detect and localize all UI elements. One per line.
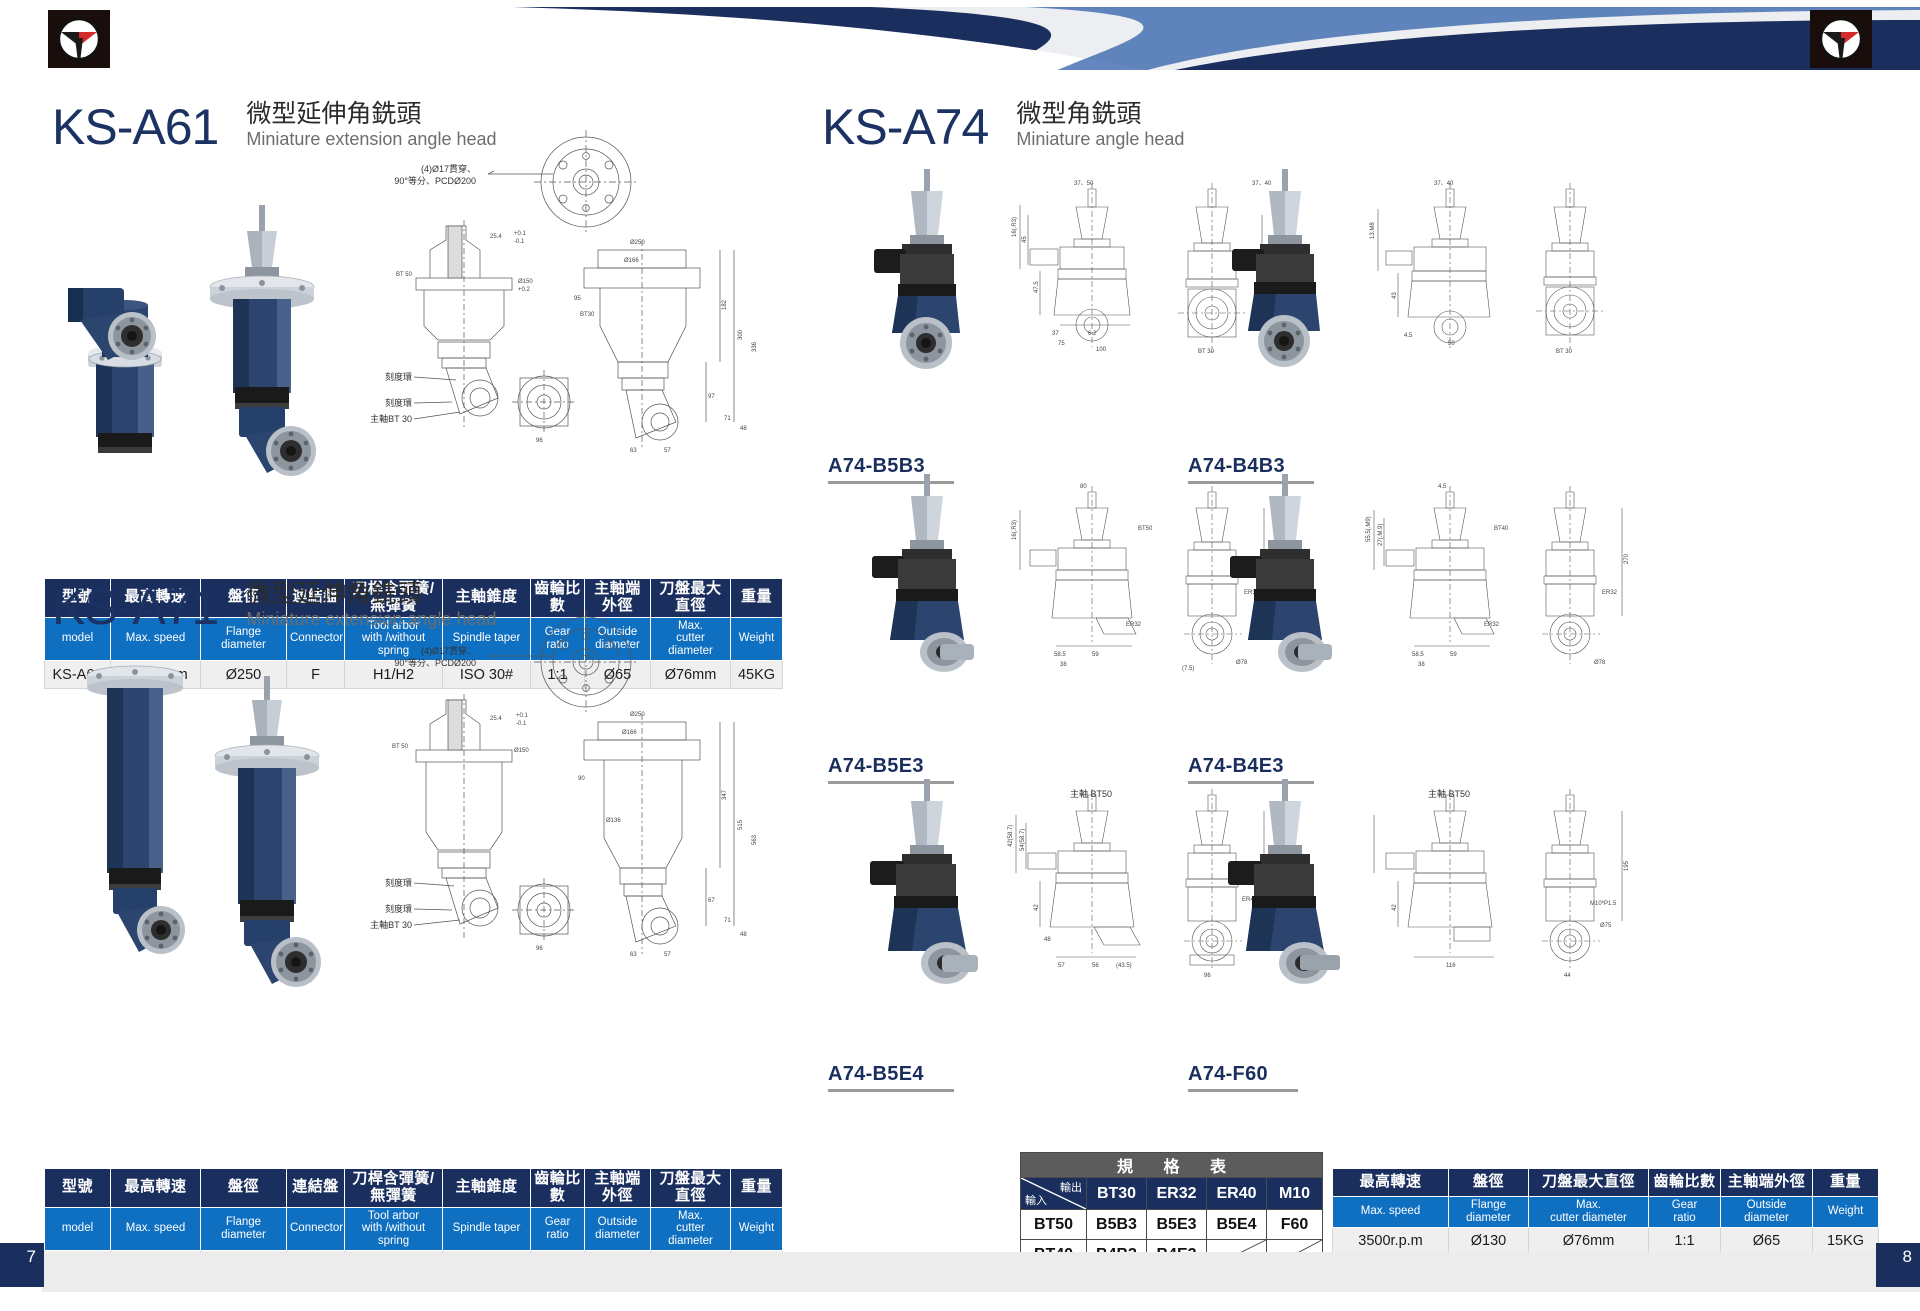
- catalog-spread: KS-A61 微型延伸角銑頭 Miniature extension angle…: [0, 0, 1920, 1311]
- product-name-cn: 微型延伸角銑頭: [246, 580, 496, 609]
- variant-drawing-a74-b4e3: 4.5 55.5(.M9) 27(.M.9) BT40 ER32 58.5 59…: [1358, 478, 1648, 693]
- svg-text:42: 42: [1392, 904, 1398, 911]
- variant-photo-a74-f60: [1198, 775, 1348, 1000]
- product-code: KS-A61: [52, 102, 218, 152]
- matrix-col-header-3: M10: [1267, 1178, 1323, 1210]
- product-code: KS-A71: [52, 582, 218, 632]
- svg-text:16(.R3): 16(.R3): [1012, 217, 1018, 237]
- svg-text:ER32: ER32: [1126, 622, 1142, 628]
- svg-text:90: 90: [578, 776, 585, 782]
- col-header-cn-5: 重量: [1813, 1169, 1879, 1197]
- matrix-corner-header: 輸出輸入: [1021, 1178, 1087, 1210]
- svg-text:182: 182: [722, 299, 728, 310]
- svg-text:BT40: BT40: [1494, 526, 1509, 532]
- footer-bar: [0, 1252, 1920, 1292]
- svg-text:Ø75: Ø75: [1600, 923, 1612, 929]
- variant-photo-a74-b5e3: [840, 470, 990, 690]
- svg-text:59: 59: [1450, 652, 1457, 658]
- technical-drawing-ks-a71: (4)Ø17貫穿、 90°等分、PCDØ200 25.4 +0.1 -0.1 B…: [368, 610, 768, 1010]
- svg-text:75: 75: [1058, 341, 1065, 347]
- svg-text:300: 300: [738, 329, 744, 340]
- page-number-right: 8: [1876, 1243, 1920, 1287]
- company-logo-icon: [1818, 16, 1864, 62]
- svg-text:57: 57: [1058, 963, 1065, 969]
- svg-text:563: 563: [752, 834, 758, 845]
- svg-text:58.5: 58.5: [1054, 652, 1066, 658]
- svg-text:-0.1: -0.1: [514, 239, 525, 245]
- svg-text:Ø136: Ø136: [606, 818, 621, 824]
- svg-text:48: 48: [740, 426, 747, 432]
- variant-drawing-a74-b4b3: 37、40 13.M8 43 4.5 50 BT 30: [1358, 175, 1648, 395]
- svg-text:57: 57: [664, 448, 671, 454]
- svg-text:Ø150: Ø150: [514, 748, 529, 754]
- svg-text:100: 100: [1096, 347, 1107, 353]
- svg-text:(4)Ø17貫穿、: (4)Ø17貫穿、: [421, 645, 476, 656]
- company-logo-icon: [56, 16, 102, 62]
- technical-drawing-ks-a61: (4)Ø17貫穿、 90°等分、PCDØ200 25.4 +0.1 -0.1 B…: [368, 130, 768, 530]
- svg-text:(43.5): (43.5): [1116, 963, 1132, 969]
- svg-text:90°等分、PCDØ200: 90°等分、PCDØ200: [394, 657, 476, 668]
- svg-text:+0.2: +0.2: [518, 287, 531, 293]
- svg-text:Ø166: Ø166: [624, 258, 639, 264]
- svg-text:67: 67: [708, 898, 715, 904]
- col-header-en-0: Max. speed: [1333, 1197, 1449, 1228]
- matrix-row-header-0: BT50: [1021, 1210, 1087, 1240]
- product-header-ks-a74: KS-A74 微型角銑頭 Miniature angle head: [822, 100, 1184, 152]
- svg-text:刻度環: 刻度環: [385, 877, 412, 888]
- product-photo-ks-a61-b: [175, 195, 350, 485]
- variant-label-text: A74-F60: [1188, 1063, 1268, 1086]
- svg-text:(7.5): (7.5): [1182, 666, 1194, 672]
- svg-text:主軸BT 30: 主軸BT 30: [370, 413, 412, 424]
- svg-text:M10*P1.5: M10*P1.5: [1590, 901, 1617, 907]
- col-header-cn-3: 齒輪比數: [1649, 1169, 1721, 1197]
- top-banner: [0, 0, 1920, 78]
- svg-text:主軸BT 30: 主軸BT 30: [370, 919, 412, 930]
- product-name-cn: 微型角銑頭: [1016, 100, 1184, 129]
- matrix-col-header-2: ER40: [1207, 1178, 1267, 1210]
- svg-text:59: 59: [1092, 652, 1099, 658]
- col-header-en-2: Max.cutter diameter: [1529, 1197, 1649, 1228]
- variant-label-a74-f60: A74-F60: [1188, 1063, 1298, 1092]
- svg-text:195: 195: [1624, 860, 1630, 871]
- table-header-row-cn: 型號最高轉速盤徑連結盤刀桿含彈簧/無彈簧主軸錐度齒輪比數主軸端外徑刀盤最大直徑重…: [45, 1169, 783, 1208]
- col-header-cn-0: 最高轉速: [1333, 1169, 1449, 1197]
- svg-text:25.4: 25.4: [490, 716, 502, 722]
- svg-text:BT50: BT50: [1138, 526, 1153, 532]
- svg-text:55.5(.M9): 55.5(.M9): [1366, 516, 1372, 542]
- svg-text:50: 50: [1448, 341, 1455, 347]
- svg-text:+0.1: +0.1: [514, 231, 527, 237]
- label-underline: [1188, 1089, 1298, 1092]
- product-name-cn: 微型延伸角銑頭: [246, 100, 496, 129]
- spec-table-ks-a74: 最高轉速盤徑刀盤最大直徑齒輪比數主軸端外徑重量 Max. speedFlange…: [1332, 1168, 1879, 1256]
- product-name-block: 微型角銑頭 Miniature angle head: [1016, 100, 1184, 152]
- col-header-cn-3: 連結盤: [287, 1169, 345, 1208]
- svg-text:Ø166: Ø166: [622, 730, 637, 736]
- svg-text:BT 50: BT 50: [392, 744, 409, 750]
- drawing-note-holes: (4)Ø17貫穿、: [421, 163, 476, 174]
- col-header-cn-4: 主軸端外徑: [1721, 1169, 1813, 1197]
- svg-text:Ø150: Ø150: [518, 279, 533, 285]
- col-header-en-3: Connector: [287, 1207, 345, 1251]
- col-header-cn-2: 刀盤最大直徑: [1529, 1169, 1649, 1197]
- col-header-en-5: Weight: [1813, 1197, 1879, 1228]
- svg-text:270: 270: [1624, 553, 1630, 564]
- svg-text:ER32: ER32: [1484, 622, 1500, 628]
- col-header-en-4: Outsidediameter: [1721, 1197, 1813, 1228]
- svg-text:38: 38: [1418, 662, 1425, 668]
- table-header-row-en: modelMax. speedFlange diameterConnectorT…: [45, 1207, 783, 1251]
- svg-text:37、50: 37、50: [1074, 181, 1094, 187]
- svg-text:6.2: 6.2: [1088, 331, 1097, 337]
- svg-text:Ø78: Ø78: [1594, 660, 1606, 666]
- label-underline: [828, 1089, 954, 1092]
- svg-text:54(58.7): 54(58.7): [1020, 829, 1026, 851]
- svg-text:63: 63: [630, 952, 637, 958]
- svg-text:ER32: ER32: [1602, 590, 1618, 596]
- col-header-en-8: Max.cutter diameter: [651, 1207, 731, 1251]
- svg-text:116: 116: [1446, 963, 1456, 969]
- svg-text:71: 71: [724, 416, 731, 422]
- matrix-col-header-1: ER32: [1147, 1178, 1207, 1210]
- matrix-cell-0-0: B5B3: [1087, 1210, 1147, 1240]
- col-header-cn-7: 主軸端外徑: [585, 1169, 651, 1208]
- svg-text:48: 48: [1044, 937, 1051, 943]
- svg-text:-0.1: -0.1: [516, 721, 527, 727]
- product-name-en: Miniature angle head: [1016, 129, 1184, 151]
- col-header-en-4: Tool arborwith /without spring: [345, 1207, 443, 1251]
- col-header-en-1: Flangediameter: [1449, 1197, 1529, 1228]
- svg-text:42(58.7): 42(58.7): [1008, 825, 1014, 847]
- col-header-en-5: Spindle taper: [443, 1207, 531, 1251]
- col-header-cn-1: 盤徑: [1449, 1169, 1529, 1197]
- col-header-cn-4: 刀桿含彈簧/無彈簧: [345, 1169, 443, 1208]
- svg-text:37、40: 37、40: [1434, 181, 1454, 187]
- svg-text:刻度環: 刻度環: [385, 397, 412, 408]
- svg-text:96: 96: [536, 946, 543, 952]
- col-header-en-9: Weight: [731, 1207, 783, 1251]
- svg-text:48: 48: [740, 932, 747, 938]
- matrix-title: 規 格 表: [1021, 1153, 1323, 1178]
- company-logo-right: [1810, 10, 1872, 68]
- table-header-row-cn: 最高轉速盤徑刀盤最大直徑齒輪比數主軸端外徑重量: [1333, 1169, 1879, 1197]
- svg-text:+0.1: +0.1: [516, 713, 529, 719]
- col-header-en-6: Gearratio: [531, 1207, 585, 1251]
- col-header-en-2: Flange diameter: [201, 1207, 287, 1251]
- product-code: KS-A74: [822, 102, 988, 152]
- svg-text:Ø250: Ø250: [630, 712, 645, 718]
- product-photo-ks-a71-b: [180, 672, 355, 992]
- col-header-cn-6: 齒輪比數: [531, 1169, 585, 1208]
- col-header-cn-8: 刀盤最大直徑: [651, 1169, 731, 1208]
- svg-text:80: 80: [1080, 484, 1087, 490]
- svg-text:56: 56: [1092, 963, 1099, 969]
- svg-text:刻度環: 刻度環: [385, 903, 412, 914]
- svg-text:58.5: 58.5: [1412, 652, 1424, 658]
- svg-text:主軸 BT50: 主軸 BT50: [1070, 788, 1112, 799]
- svg-text:90°等分、PCDØ200: 90°等分、PCDØ200: [394, 175, 476, 186]
- svg-text:336: 336: [752, 341, 758, 352]
- svg-text:96: 96: [536, 438, 543, 444]
- col-header-en-1: Max. speed: [111, 1207, 201, 1251]
- svg-text:Ø250: Ø250: [630, 240, 645, 246]
- svg-text:44: 44: [1564, 973, 1571, 979]
- svg-text:57: 57: [664, 952, 671, 958]
- variant-label-text: A74-B5E4: [828, 1063, 924, 1086]
- matrix-cell-0-2: B5E4: [1207, 1210, 1267, 1240]
- variant-photo-a74-b5e4: [840, 775, 990, 1000]
- svg-text:95: 95: [574, 296, 581, 302]
- svg-text:4.5: 4.5: [1404, 333, 1413, 339]
- svg-text:38: 38: [1060, 662, 1067, 668]
- svg-text:63: 63: [630, 448, 637, 454]
- svg-text:25.4: 25.4: [490, 234, 502, 240]
- svg-text:42: 42: [1034, 904, 1040, 911]
- variant-drawing-a74-f60: 主軸 BT50 42 116 195 M10*P1.5 Ø75 44: [1358, 785, 1648, 1000]
- svg-text:刻度環: 刻度環: [385, 371, 412, 382]
- variant-photo-a74-b5b3: [840, 165, 990, 385]
- svg-text:71: 71: [724, 918, 731, 924]
- svg-text:515: 515: [738, 819, 744, 830]
- variant-photo-a74-b4e3: [1198, 470, 1348, 690]
- svg-text:43: 43: [1392, 292, 1398, 299]
- svg-text:347: 347: [722, 789, 728, 800]
- table-header-row-en: Max. speedFlangediameterMax.cutter diame…: [1333, 1197, 1879, 1228]
- svg-text:BT 30: BT 30: [1556, 349, 1573, 355]
- matrix-col-header-0: BT30: [1087, 1178, 1147, 1210]
- page-number-left: 7: [0, 1243, 44, 1287]
- matrix-row: BT50B5B3B5E3B5E4F60: [1021, 1210, 1323, 1240]
- product-photo-ks-a61-head: [58, 282, 168, 372]
- svg-text:47.5: 47.5: [1034, 281, 1040, 293]
- svg-text:97: 97: [708, 394, 715, 400]
- variant-label-a74-b5e4: A74-B5E4: [828, 1063, 954, 1092]
- svg-text:BT 50: BT 50: [396, 272, 413, 278]
- col-header-en-7: Outsidediameter: [585, 1207, 651, 1251]
- svg-text:16(.R3): 16(.R3): [1012, 520, 1018, 540]
- matrix-cell-0-1: B5E3: [1147, 1210, 1207, 1240]
- col-header-cn-1: 最高轉速: [111, 1169, 201, 1208]
- col-header-en-0: model: [45, 1207, 111, 1251]
- col-header-cn-0: 型號: [45, 1169, 111, 1208]
- svg-text:37: 37: [1052, 331, 1059, 337]
- svg-text:45: 45: [1022, 236, 1028, 243]
- col-header-cn-9: 重量: [731, 1169, 783, 1208]
- svg-text:4.5: 4.5: [1438, 484, 1447, 490]
- col-header-en-3: Gearratio: [1649, 1197, 1721, 1228]
- svg-text:13.M8: 13.M8: [1370, 222, 1376, 239]
- matrix-cell-0-3: F60: [1267, 1210, 1323, 1240]
- svg-text:主軸 BT50: 主軸 BT50: [1428, 788, 1470, 799]
- svg-text:BT30: BT30: [580, 312, 595, 318]
- company-logo-left: [48, 10, 110, 68]
- variant-photo-a74-b4b3: [1198, 165, 1348, 385]
- col-header-cn-2: 盤徑: [201, 1169, 287, 1208]
- svg-text:27(.M.9): 27(.M.9): [1378, 524, 1384, 546]
- col-header-cn-5: 主軸錐度: [443, 1169, 531, 1208]
